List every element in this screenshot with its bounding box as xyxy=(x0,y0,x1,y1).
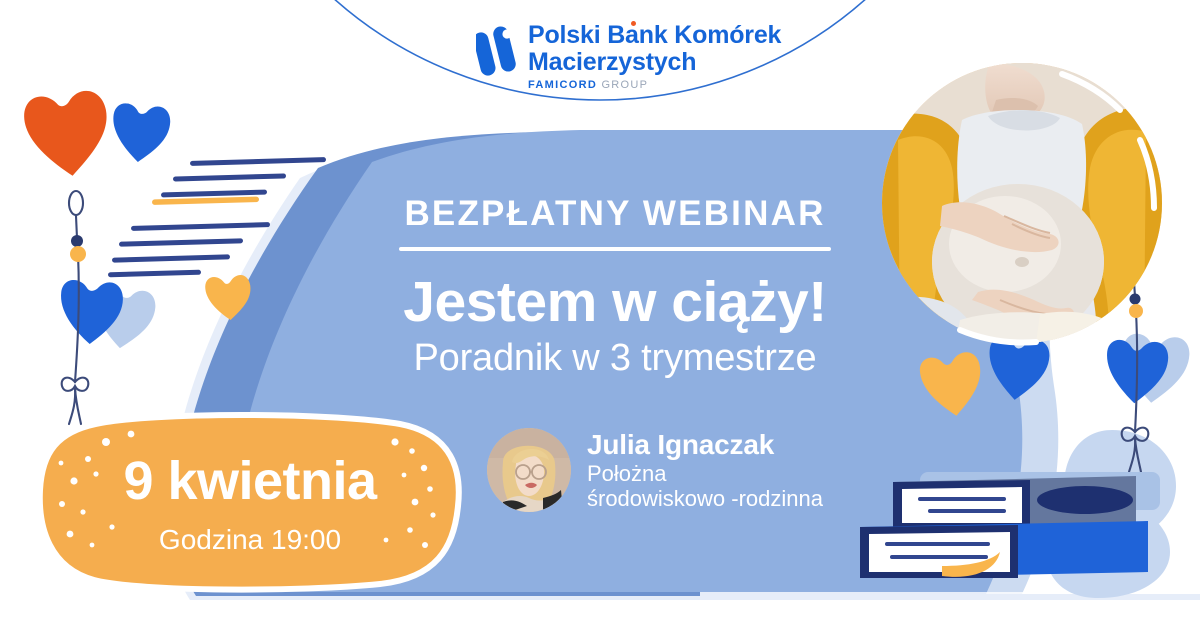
famicord-label: FAMICORD xyxy=(528,79,597,91)
brand-logo-line2: Macierzystych xyxy=(528,49,781,76)
decor-heart-orange xyxy=(22,89,112,180)
page-subtitle: Poradnik w 3 trymestrze xyxy=(330,338,900,380)
brand-logo-text: Polski Bank Komórek Macierzystych FAMICO… xyxy=(528,22,781,92)
book-top-emblem xyxy=(1037,486,1133,514)
event-date: 9 kwietnia xyxy=(123,454,376,508)
decor-bead-orange-left xyxy=(70,246,86,262)
date-badge: 9 kwietnia Godzina 19:00 xyxy=(40,418,460,590)
decor-line-orange xyxy=(152,196,259,204)
decor-book-stack xyxy=(860,472,1160,578)
avatar xyxy=(487,428,571,512)
brand-logo-subtitle: FAMICORD GROUP xyxy=(528,80,781,92)
date-badge-text: 9 kwietnia Godzina 19:00 xyxy=(40,418,460,590)
pbkm-mark-icon xyxy=(476,24,518,76)
hero-headline-block: BEZPŁATNY WEBINAR Jestem w ciąży! Poradn… xyxy=(330,196,900,380)
decor-heart-blue-top xyxy=(109,102,172,165)
avatar-photo xyxy=(487,428,571,512)
speaker-name: Julia Ignaczak xyxy=(587,429,823,461)
brand-logo-line1: Polski Bank Komórek xyxy=(528,22,781,49)
decor-bead-navy-left xyxy=(71,235,83,247)
eyebrow-divider xyxy=(399,247,831,251)
event-time: Godzina 19:00 xyxy=(159,526,341,554)
webinar-banner: Polski Bank Komórek Macierzystych FAMICO… xyxy=(0,0,1200,628)
speaker-text: Julia Ignaczak Położna środowiskowo -rod… xyxy=(587,429,823,511)
decor-bead-navy-right xyxy=(1130,294,1141,305)
brand-logo[interactable]: Polski Bank Komórek Macierzystych FAMICO… xyxy=(476,22,781,92)
speaker-role-line2: środowiskowo -rodzinna xyxy=(587,486,823,511)
webinar-eyebrow: BEZPŁATNY WEBINAR xyxy=(330,196,900,231)
speaker-block: Julia Ignaczak Położna środowiskowo -rod… xyxy=(487,428,823,512)
logo-i-dot-icon xyxy=(631,21,636,26)
book-top-pages xyxy=(902,487,1022,523)
hero-photo xyxy=(882,63,1162,343)
group-label: GROUP xyxy=(601,79,648,91)
speaker-role-line1: Położna xyxy=(587,461,823,486)
decor-bead-orange-right xyxy=(1129,304,1143,318)
page-title: Jestem w ciąży! xyxy=(330,273,900,332)
